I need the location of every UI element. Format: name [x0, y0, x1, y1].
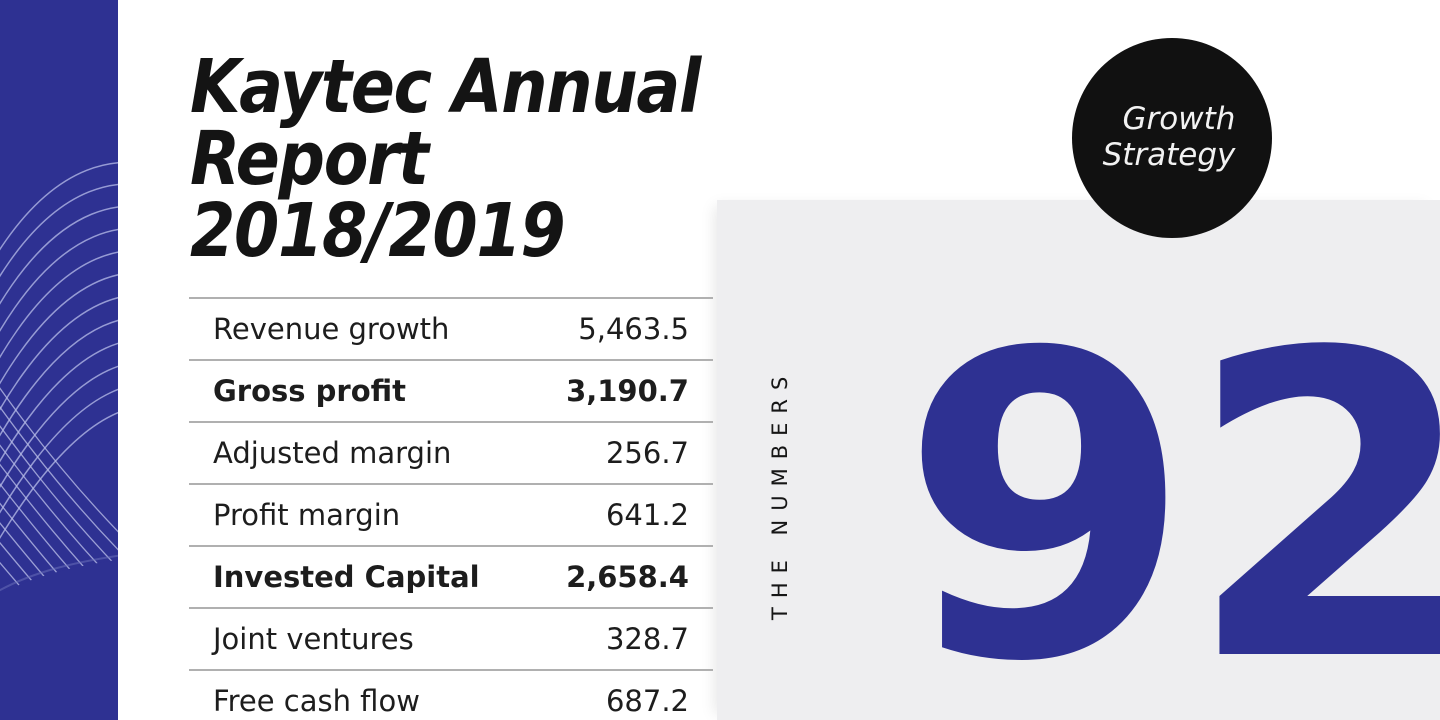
- table-row[interactable]: Joint ventures 328.7: [189, 607, 713, 669]
- table-cell-value: 256.7: [606, 436, 689, 470]
- guilloche-pattern-icon: [0, 0, 118, 720]
- table-row[interactable]: Revenue growth 5,463.5: [189, 297, 713, 359]
- table-cell-label: Adjusted margin: [213, 436, 451, 470]
- table-cell-value: 3,190.7: [566, 374, 689, 408]
- table-row[interactable]: Adjusted margin 256.7: [189, 421, 713, 483]
- table-row[interactable]: Profit margin 641.2: [189, 483, 713, 545]
- table-row[interactable]: Invested Capital 2,658.4: [189, 545, 713, 607]
- report-cover-page: Kaytec Annual Report 2018/2019 Revenue g…: [0, 0, 1440, 720]
- table-cell-label: Joint ventures: [213, 622, 414, 656]
- big-number: 92: [900, 300, 1440, 720]
- table-cell-label: Gross profit: [213, 374, 406, 408]
- table-cell-label: Revenue growth: [213, 312, 449, 346]
- table-cell-label: Invested Capital: [213, 560, 480, 594]
- table-cell-value: 2,658.4: [566, 560, 689, 594]
- table-cell-value: 5,463.5: [578, 312, 689, 346]
- financial-table: Revenue growth 5,463.5 Gross profit 3,19…: [189, 297, 713, 720]
- table-cell-label: Free cash flow: [213, 684, 420, 718]
- table-cell-value: 328.7: [606, 622, 689, 656]
- decorative-sidebar: [0, 0, 118, 720]
- numbers-panel-vertical-label: THE NUMBERS: [768, 368, 792, 620]
- table-cell-value: 687.2: [606, 684, 689, 718]
- growth-strategy-badge-label: Growth Strategy: [1103, 102, 1242, 174]
- growth-strategy-badge[interactable]: Growth Strategy: [1072, 38, 1272, 238]
- table-cell-value: 641.2: [606, 498, 689, 532]
- table-row[interactable]: Gross profit 3,190.7: [189, 359, 713, 421]
- table-cell-label: Profit margin: [213, 498, 400, 532]
- table-row[interactable]: Free cash flow 687.2: [189, 669, 713, 720]
- page-title: Kaytec Annual Report 2018/2019: [190, 52, 894, 267]
